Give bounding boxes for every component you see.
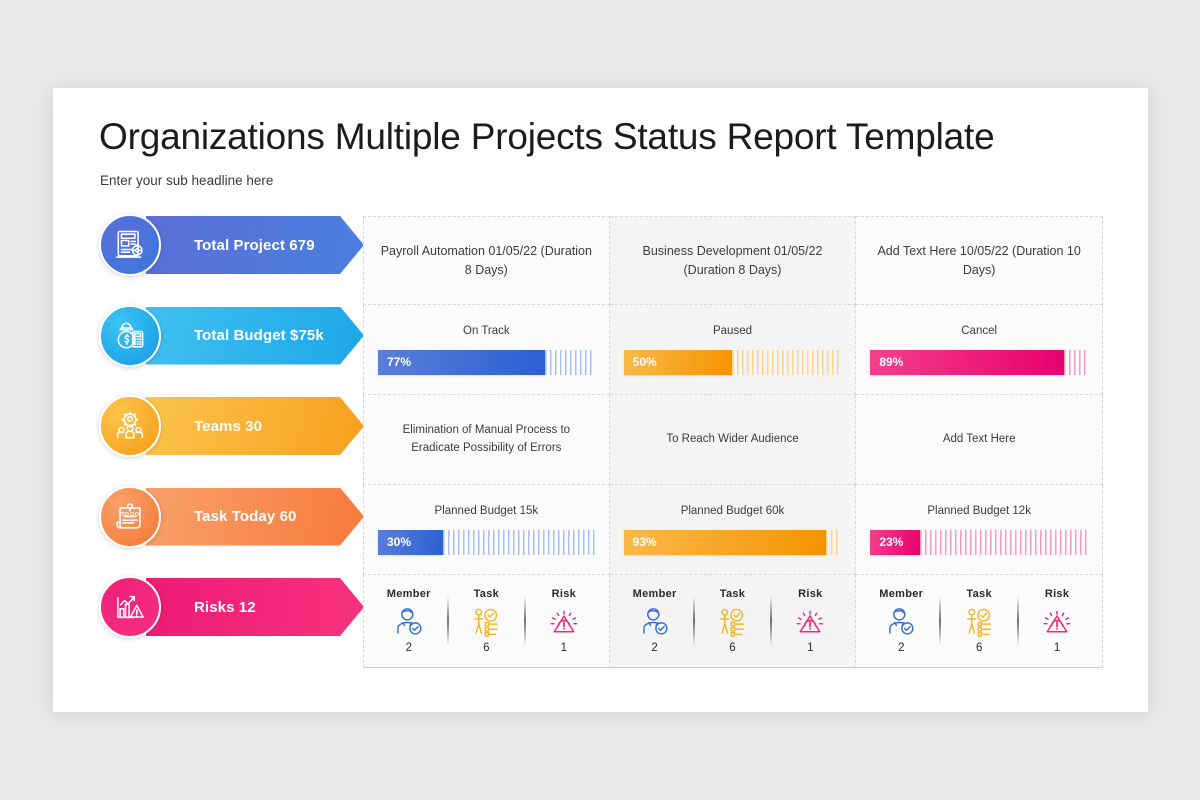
summary-badge-list: Total Project 679Total Budget $75kTeams … <box>99 216 364 668</box>
project-budget-cell: Planned Budget 60k93% <box>610 485 857 575</box>
task-checklist-icon <box>715 605 749 639</box>
project-budget-label: Planned Budget 15k <box>435 505 539 517</box>
task-checklist-icon <box>962 605 996 639</box>
project-description-text: To Reach Wider Audience <box>666 431 798 448</box>
summary-badge[interactable]: Total Project 679 <box>99 216 364 274</box>
project-metric: Member2 <box>616 588 694 654</box>
status-progress-fill: 77% <box>378 350 545 375</box>
status-progress-fill: 50% <box>624 350 733 375</box>
summary-badge-label: Total Budget $75k <box>194 327 324 344</box>
summary-badge-arrow: Total Project 679 <box>146 216 364 274</box>
summary-badge-label: Teams 30 <box>194 418 262 435</box>
project-status-cell: Cancel89% <box>856 305 1103 395</box>
project-metric: Risk1 <box>525 588 603 654</box>
status-progress-fill: 89% <box>870 350 1064 375</box>
project-description-text: Add Text Here <box>943 431 1016 448</box>
todo-clipboard-icon: TO DO <box>99 486 161 548</box>
project-header-cell: Business Development 01/05/22 (Duration … <box>610 216 857 305</box>
project-metric-value: 2 <box>898 642 904 654</box>
risk-chart-warning-icon <box>99 576 161 638</box>
project-metric: Task6 <box>694 588 772 654</box>
project-metric: Risk1 <box>1018 588 1096 654</box>
project-metric-label: Task <box>474 588 499 600</box>
status-progress-remainder <box>1064 350 1088 375</box>
project-metric-label: Risk <box>1045 588 1069 600</box>
project-description-cell: To Reach Wider Audience <box>610 395 857 485</box>
project-metric-value: 2 <box>406 642 412 654</box>
project-metric-value: 6 <box>483 642 489 654</box>
budget-progress-remainder <box>826 530 841 555</box>
project-metric-label: Member <box>387 588 431 600</box>
project-metric-label: Task <box>966 588 991 600</box>
project-metric-value: 1 <box>807 642 813 654</box>
status-progress-bar: 50% <box>624 350 842 375</box>
project-header-cell: Payroll Automation 01/05/22 (Duration 8 … <box>363 216 610 305</box>
status-progress-remainder <box>545 350 595 375</box>
summary-badge-arrow: Teams 30 <box>146 397 364 455</box>
project-description-cell: Add Text Here <box>856 395 1103 485</box>
summary-badge-label: Total Project 679 <box>194 237 315 254</box>
project-metric-label: Risk <box>798 588 822 600</box>
risk-warning-triangle-icon <box>793 605 827 639</box>
project-metric-label: Member <box>633 588 677 600</box>
project-metric: Task6 <box>448 588 526 654</box>
project-metric: Member2 <box>862 588 940 654</box>
member-person-check-icon <box>884 605 918 639</box>
projects-status-table: Payroll Automation 01/05/22 (Duration 8 … <box>363 216 1103 668</box>
project-description-text: Elimination of Manual Process to Eradica… <box>378 422 595 457</box>
page-subtitle: Enter your sub headline here <box>100 173 273 188</box>
project-budget-cell: Planned Budget 12k23% <box>856 485 1103 575</box>
summary-badge-label: Risks 12 <box>194 599 256 616</box>
project-budget-cell: Planned Budget 15k30% <box>363 485 610 575</box>
project-header-cell: Add Text Here 10/05/22 (Duration 10 Days… <box>856 216 1103 305</box>
risk-warning-triangle-icon <box>547 605 581 639</box>
project-header-text: Business Development 01/05/22 (Duration … <box>624 242 842 278</box>
status-progress-remainder <box>732 350 841 375</box>
budget-progress-bar: 30% <box>378 530 595 555</box>
project-header-text: Add Text Here 10/05/22 (Duration 10 Days… <box>870 242 1088 278</box>
project-metrics-cell: Member2Task6Risk1 <box>363 575 610 668</box>
project-metric: Task6 <box>940 588 1018 654</box>
project-status-cell: On Track77% <box>363 305 610 395</box>
project-metrics-cell: Member2Task6Risk1 <box>856 575 1103 668</box>
project-metric-label: Member <box>879 588 923 600</box>
member-person-check-icon <box>392 605 426 639</box>
project-description-cell: Elimination of Manual Process to Eradica… <box>363 395 610 485</box>
project-metrics-cell: Member2Task6Risk1 <box>610 575 857 668</box>
summary-badge-arrow: Risks 12 <box>146 578 364 636</box>
project-metric: Risk1 <box>771 588 849 654</box>
slide-canvas: Organizations Multiple Projects Status R… <box>53 88 1148 712</box>
project-metric-value: 1 <box>561 642 567 654</box>
member-person-check-icon <box>638 605 672 639</box>
task-checklist-icon <box>469 605 503 639</box>
project-status-label: Cancel <box>961 325 997 337</box>
summary-badge[interactable]: Teams 30 <box>99 397 364 455</box>
budget-progress-bar: 93% <box>624 530 842 555</box>
budget-progress-remainder <box>443 530 595 555</box>
budget-progress-fill: 23% <box>870 530 920 555</box>
summary-badge-label: Task Today 60 <box>194 508 296 525</box>
project-metric-value: 6 <box>729 642 735 654</box>
project-status-label: Paused <box>713 325 752 337</box>
project-metric-value: 2 <box>651 642 657 654</box>
risk-warning-triangle-icon <box>1040 605 1074 639</box>
budget-progress-fill: 93% <box>624 530 826 555</box>
budget-progress-bar: 23% <box>870 530 1088 555</box>
project-budget-label: Planned Budget 60k <box>681 505 785 517</box>
status-progress-bar: 89% <box>870 350 1088 375</box>
status-progress-bar: 77% <box>378 350 595 375</box>
project-status-label: On Track <box>463 325 510 337</box>
summary-badge-arrow: Total Budget $75k <box>146 307 364 365</box>
project-header-text: Payroll Automation 01/05/22 (Duration 8 … <box>378 242 595 278</box>
project-metric: Member2 <box>370 588 448 654</box>
summary-badge[interactable]: Total Budget $75k <box>99 307 364 365</box>
project-metric-label: Risk <box>552 588 576 600</box>
project-metric-value: 1 <box>1054 642 1060 654</box>
budget-progress-remainder <box>920 530 1088 555</box>
summary-badge-arrow: Task Today 60 <box>146 488 364 546</box>
page-title: Organizations Multiple Projects Status R… <box>99 116 994 158</box>
teams-gear-people-icon <box>99 395 161 457</box>
money-bag-calculator-icon <box>99 305 161 367</box>
project-document-gear-icon <box>99 214 161 276</box>
project-metric-value: 6 <box>976 642 982 654</box>
project-status-cell: Paused50% <box>610 305 857 395</box>
summary-badge[interactable]: Task Today 60TO DO <box>99 488 364 546</box>
summary-badge[interactable]: Risks 12 <box>99 578 364 636</box>
budget-progress-fill: 30% <box>378 530 443 555</box>
project-budget-label: Planned Budget 12k <box>927 505 1031 517</box>
project-metric-label: Task <box>720 588 745 600</box>
svg-text:TO DO: TO DO <box>121 512 140 518</box>
